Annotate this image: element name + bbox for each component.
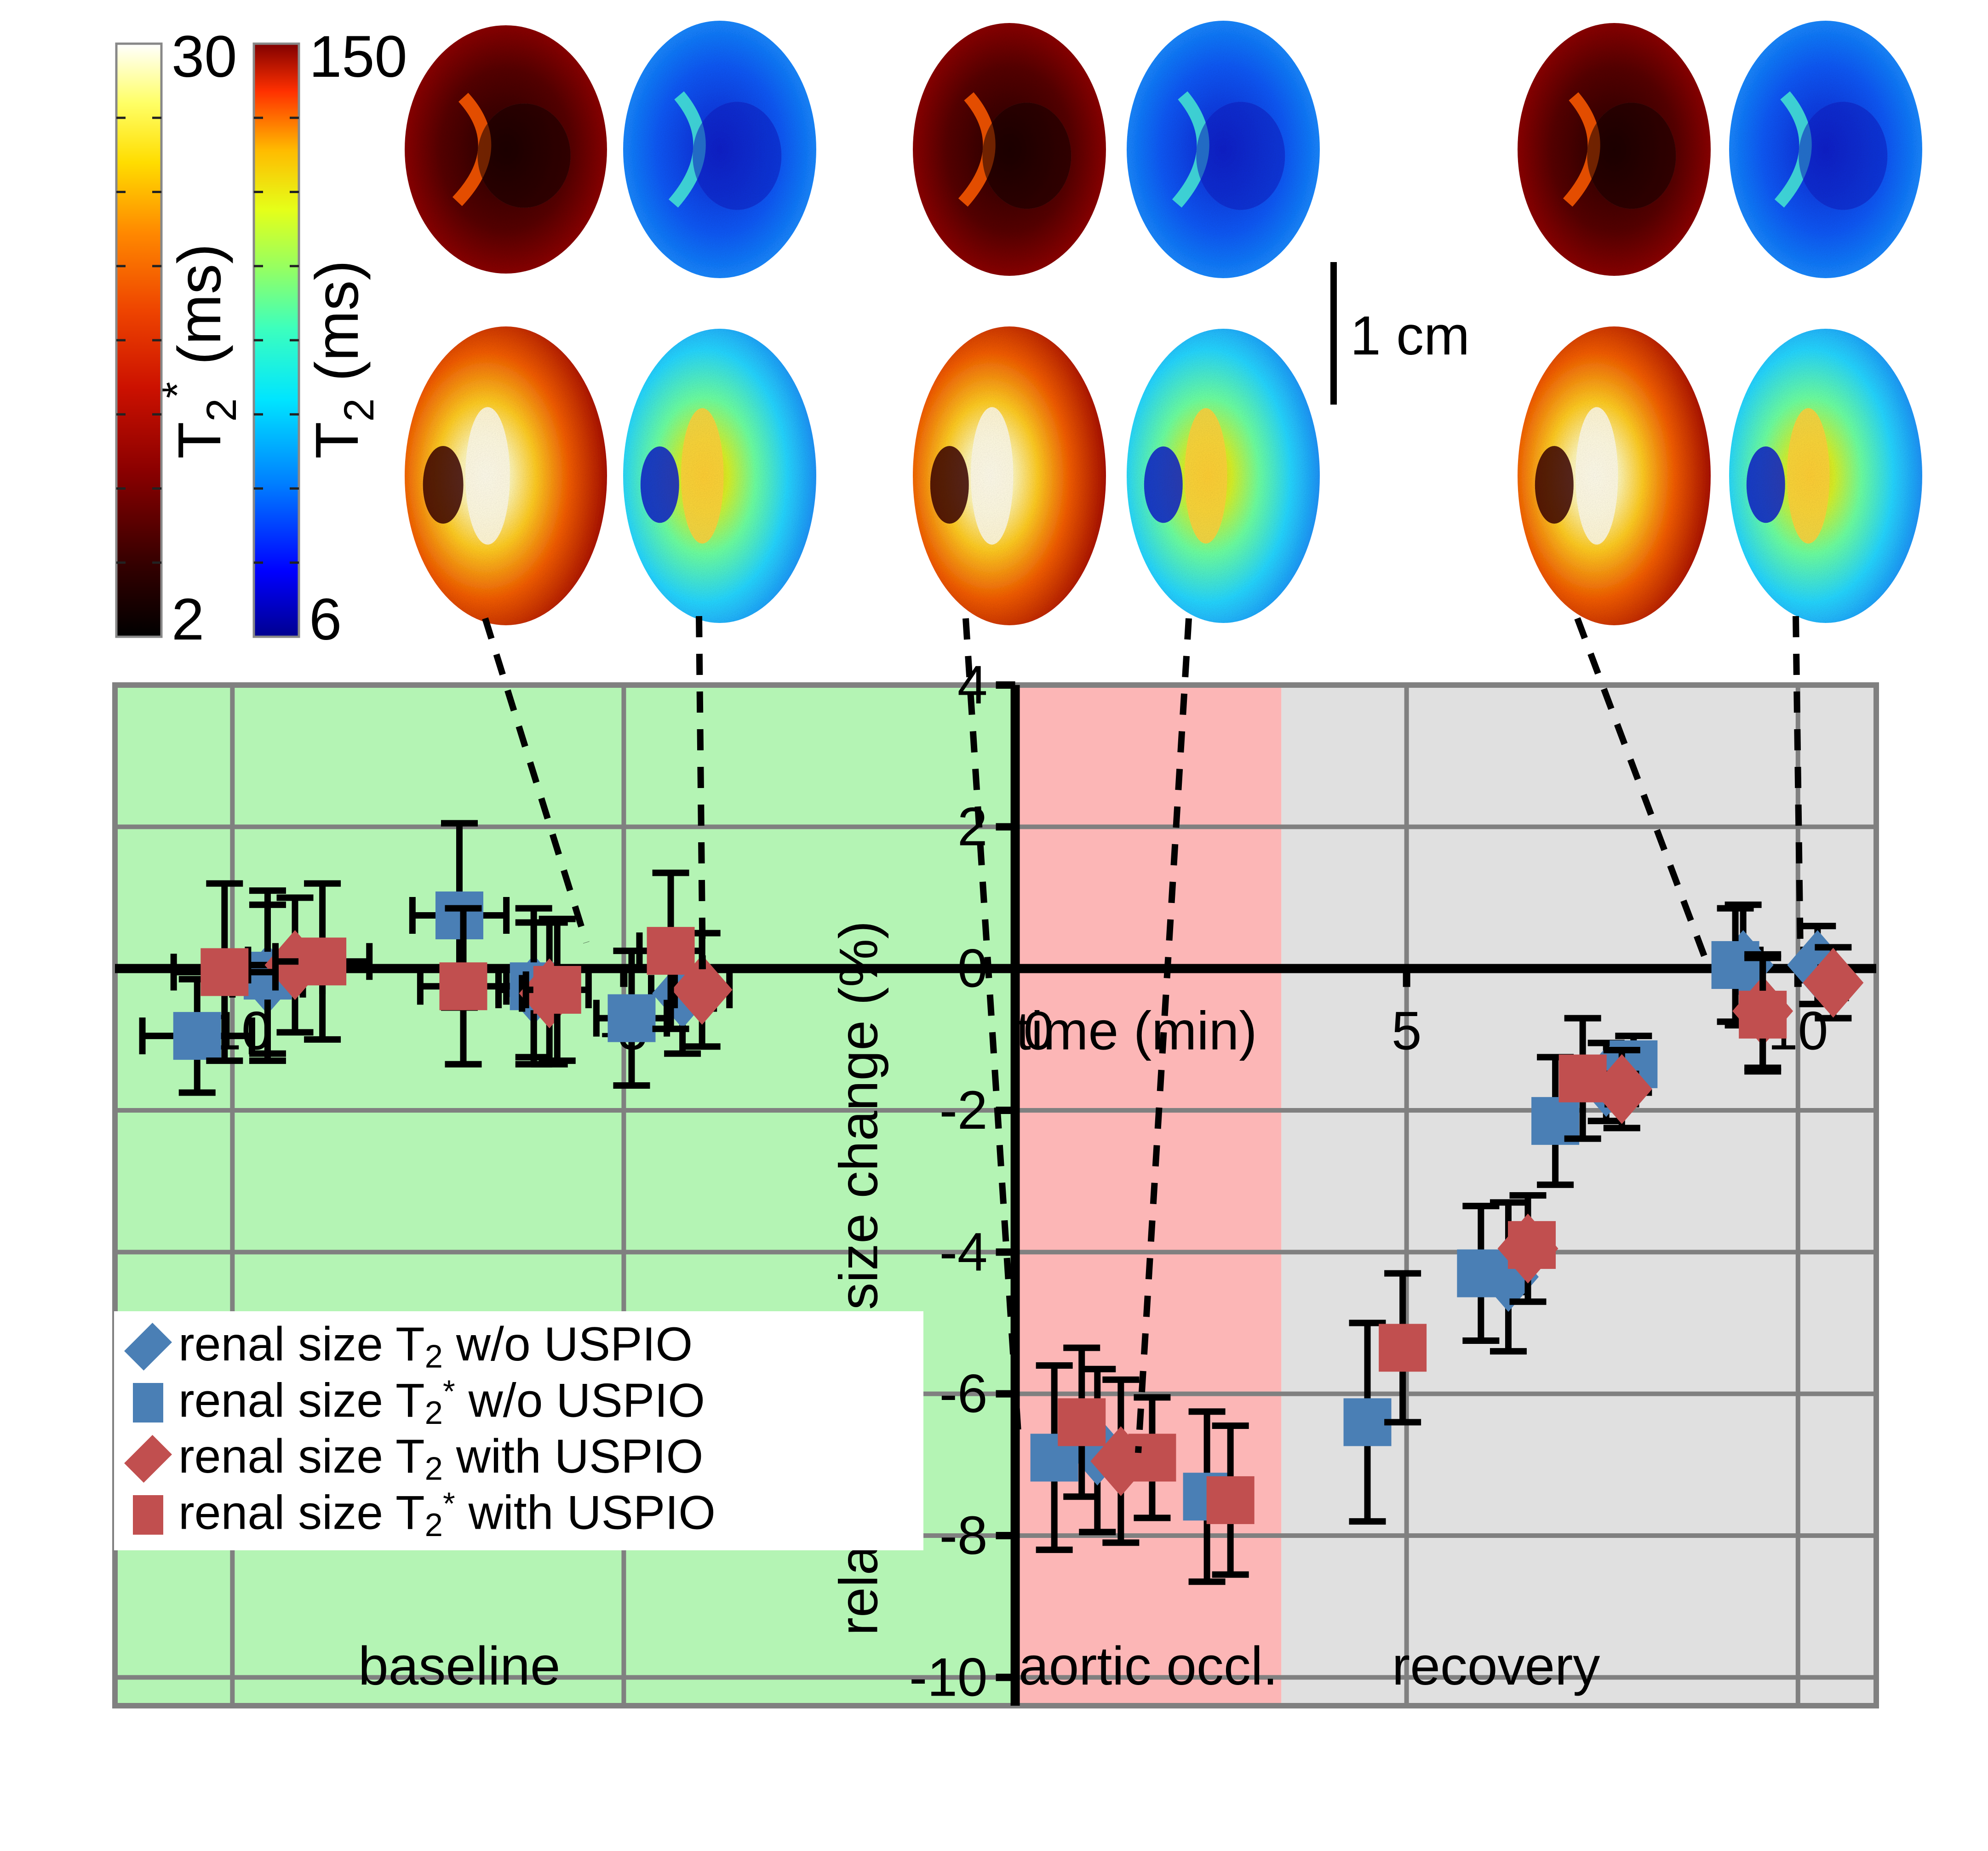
mri-medulla-region xyxy=(971,407,1013,545)
y-axis-tick-label: -6 xyxy=(940,1364,988,1424)
zone-caption: baseline xyxy=(358,1636,561,1697)
colorbar-max-label-T2star: 30 xyxy=(172,24,237,90)
legend-item-0[interactable]: renal size T2 w/o USPIO xyxy=(126,1319,923,1375)
data-marker-square[interactable] xyxy=(201,948,248,996)
colorbar-axis-label-T2star: T2* (ms) xyxy=(154,244,245,459)
data-marker-square[interactable] xyxy=(1559,1055,1607,1103)
mri-medulla-region xyxy=(465,407,510,545)
data-marker-square[interactable] xyxy=(298,937,346,985)
legend-item-label: renal size T2* w/o USPIO xyxy=(178,1376,705,1429)
mri-hilum-region xyxy=(1535,446,1574,524)
x-axis-title: time (min) xyxy=(1016,1001,1257,1062)
mri-hilum-region xyxy=(641,446,679,523)
colorbar-T2star: 302T2* (ms) xyxy=(116,24,245,652)
mri-cortex-shadow xyxy=(1196,102,1285,210)
colorbar-group: 302T2* (ms)1506T2 (ms) xyxy=(116,24,407,652)
mri-medulla-region xyxy=(681,408,723,543)
mri-panel-recovery-top-T2 xyxy=(1729,21,1922,278)
mri-panel-recovery-bottom-T2star xyxy=(1518,326,1711,625)
data-marker-square[interactable] xyxy=(435,891,483,939)
mri-cortex-shadow xyxy=(693,102,781,210)
legend-square-icon xyxy=(126,1495,170,1535)
mri-panel-recovery-bottom-T2 xyxy=(1729,329,1922,623)
y-axis-tick-label: 0 xyxy=(957,938,988,999)
legend-item-2[interactable]: renal size T2 with USPIO xyxy=(126,1431,923,1487)
y-axis-tick-label: -2 xyxy=(940,1080,988,1141)
data-marker-square[interactable] xyxy=(1128,1434,1176,1481)
mri-medulla-region xyxy=(1185,408,1227,543)
scale-bar: 1 cm xyxy=(1334,262,1470,405)
y-axis-tick-label: -8 xyxy=(940,1505,988,1566)
legend-square-icon xyxy=(126,1383,170,1423)
data-marker-square[interactable] xyxy=(1457,1250,1505,1297)
mri-cortex-shadow xyxy=(477,103,570,208)
data-marker-square[interactable] xyxy=(533,966,581,1014)
mri-hilum-region xyxy=(1144,446,1183,523)
chart-legend: renal size T2 w/o USPIOrenal size T2* w/… xyxy=(114,1311,923,1550)
colorbar-T2: 1506T2 (ms) xyxy=(254,24,407,652)
data-marker-square[interactable] xyxy=(1508,1221,1556,1269)
legend-item-label: renal size T2 with USPIO xyxy=(178,1433,703,1485)
legend-diamond-icon xyxy=(126,1333,170,1360)
colorbar-min-label-T2star: 2 xyxy=(172,587,204,652)
mri-panel-occlusion-top-T2 xyxy=(1127,21,1320,278)
scale-bar-label: 1 cm xyxy=(1350,305,1470,366)
colorbar-max-label-T2: 150 xyxy=(309,24,407,90)
mri-hilum-region xyxy=(930,446,969,524)
mri-cortex-shadow xyxy=(982,103,1071,209)
legend-item-label: renal size T2 w/o USPIO xyxy=(178,1320,693,1373)
figure-canvas: 302T2* (ms)1506T2 (ms) 1 cm 420-2-4-6-8-… xyxy=(0,0,1988,1851)
zone-recovery xyxy=(1281,685,1876,1706)
mri-cortex-shadow xyxy=(1587,103,1676,209)
mri-panel-occlusion-bottom-T2 xyxy=(1127,329,1320,623)
figure-root: 302T2* (ms)1506T2 (ms) 1 cm 420-2-4-6-8-… xyxy=(0,0,1988,1851)
data-marker-square[interactable] xyxy=(1344,1398,1392,1446)
data-marker-square[interactable] xyxy=(439,962,487,1010)
mri-hilum-region xyxy=(423,446,464,524)
mri-hilum-region xyxy=(1747,446,1785,523)
data-marker-square[interactable] xyxy=(1058,1398,1106,1446)
data-marker-square[interactable] xyxy=(1712,941,1759,989)
mri-medulla-region xyxy=(1787,408,1829,543)
data-marker-square[interactable] xyxy=(173,1012,221,1060)
mri-panel-recovery-top-T2star xyxy=(1518,23,1711,276)
mri-panel-baseline-bottom-T2 xyxy=(623,329,816,623)
data-marker-square[interactable] xyxy=(607,994,655,1042)
mri-medulla-region xyxy=(1576,407,1618,545)
legend-item-label: renal size T2* with USPIO xyxy=(178,1488,716,1542)
legend-item-3[interactable]: renal size T2* with USPIO xyxy=(126,1487,923,1543)
mri-panel-baseline-bottom-T2star xyxy=(405,326,607,625)
legend-diamond-icon xyxy=(126,1445,170,1473)
zone-caption: aortic occl. xyxy=(1019,1636,1278,1697)
colorbar-min-label-T2: 6 xyxy=(309,587,342,652)
x-axis-tick-label: 5 xyxy=(1392,1001,1422,1062)
zone-caption: recovery xyxy=(1392,1636,1600,1697)
mri-panel-occlusion-bottom-T2star xyxy=(913,326,1106,625)
y-axis-tick-label: -4 xyxy=(940,1222,988,1282)
data-marker-square[interactable] xyxy=(1739,991,1787,1039)
data-marker-square[interactable] xyxy=(647,927,695,975)
colorbar-axis-label-T2: T2 (ms) xyxy=(303,260,383,459)
legend-item-1[interactable]: renal size T2* w/o USPIO xyxy=(126,1375,923,1431)
mri-cortex-shadow xyxy=(1799,102,1887,210)
y-axis-tick-label: -10 xyxy=(909,1647,988,1708)
data-marker-square[interactable] xyxy=(1207,1476,1255,1524)
mri-panel-occlusion-top-T2star xyxy=(913,23,1106,276)
mri-panel-baseline-top-T2 xyxy=(623,21,816,278)
mri-panel-group xyxy=(405,21,1922,625)
data-marker-square[interactable] xyxy=(1379,1324,1427,1371)
mri-panel-baseline-top-T2star xyxy=(405,25,607,274)
